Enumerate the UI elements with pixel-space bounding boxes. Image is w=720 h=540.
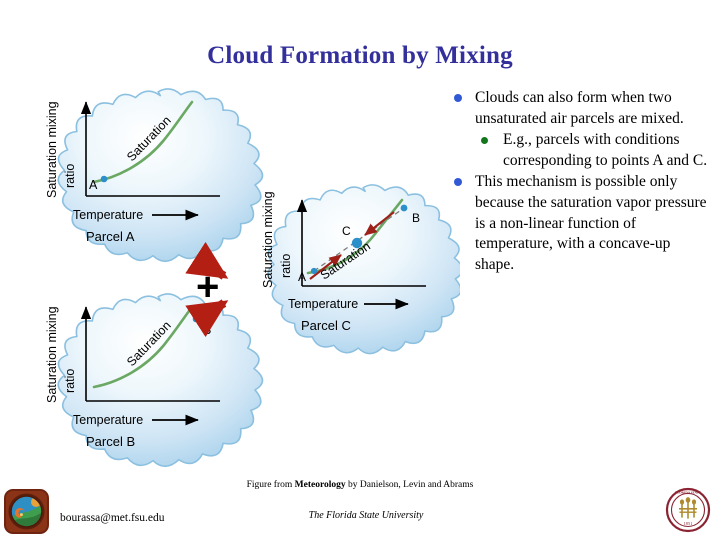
bullet-marker-green-icon — [481, 137, 488, 144]
bullet-text: E.g., parcels with conditions correspond… — [503, 130, 710, 171]
data-point-b-in-c — [401, 205, 408, 212]
parcel-b-cloud: B Saturation Saturation mixing ratio Tem… — [45, 294, 262, 466]
y-axis-label-c-line2: ratio — [279, 254, 293, 278]
point-label-a-in-c: A — [298, 270, 306, 284]
bullet-text: Clouds can also form when two unsaturate… — [475, 88, 710, 129]
point-label-c: C — [342, 224, 351, 238]
y-axis-label-b-line1: Saturation mixing — [45, 306, 59, 403]
parcel-a-cloud: A Saturation Saturation mixing ratio Tem… — [45, 89, 262, 261]
florida-state-university-seal-icon: 1851 FLORIDA STATE — [662, 484, 714, 536]
page-title: Cloud Formation by Mixing — [0, 42, 720, 70]
cloud-mixing-figure: A Saturation Saturation mixing ratio Tem… — [0, 78, 460, 483]
y-axis-label-a-line2: ratio — [63, 164, 77, 188]
parcel-b-caption: Parcel B — [86, 434, 135, 449]
y-axis-label-b-line2: ratio — [63, 369, 77, 393]
point-label-b-in-c: B — [412, 211, 420, 225]
bullet-list: Clouds can also form when two unsaturate… — [448, 88, 710, 276]
svg-text:FLORIDA STATE: FLORIDA STATE — [675, 491, 702, 495]
point-label-a: A — [89, 178, 98, 192]
university-name: The Florida State University — [226, 510, 506, 521]
figure-credit-prefix: Figure from — [247, 480, 295, 490]
bullet-item-1: Clouds can also form when two unsaturate… — [448, 88, 710, 129]
bullet-text: This mechanism is possible only because … — [475, 172, 710, 275]
figure-credit: Figure from Meteorology by Danielson, Le… — [0, 480, 720, 490]
bullet-marker-blue-icon — [454, 94, 462, 102]
contact-email[interactable]: bourassa@met.fsu.edu — [60, 512, 164, 524]
parcel-c-cloud: A C B Saturation Saturation mixing ratio… — [261, 185, 460, 354]
fsu-meteorology-seal-icon — [3, 488, 50, 535]
bullet-marker-blue-icon — [454, 178, 462, 186]
data-point-a-in-c — [311, 268, 317, 274]
y-axis-label-c-line1: Saturation mixing — [261, 191, 275, 288]
figure-credit-suffix: by Danielson, Levin and Abrams — [346, 480, 474, 490]
svg-text:1851: 1851 — [684, 521, 693, 526]
point-label-b: B — [203, 323, 211, 337]
parcel-a-caption: Parcel A — [86, 229, 135, 244]
bullet-item-2: E.g., parcels with conditions correspond… — [475, 130, 710, 171]
x-axis-label-a: Temperature — [73, 208, 143, 222]
parcel-c-caption: Parcel C — [301, 318, 351, 333]
y-axis-label-a-line1: Saturation mixing — [45, 101, 59, 198]
cloud-outline-c — [268, 185, 460, 354]
slide-canvas: Cloud Formation by Mixing — [0, 0, 720, 540]
x-axis-label-c: Temperature — [288, 297, 358, 311]
figure-credit-book: Meteorology — [295, 480, 346, 490]
data-point-a — [101, 176, 108, 183]
x-axis-label-b: Temperature — [73, 413, 143, 427]
bullet-item-3: This mechanism is possible only because … — [448, 172, 710, 275]
